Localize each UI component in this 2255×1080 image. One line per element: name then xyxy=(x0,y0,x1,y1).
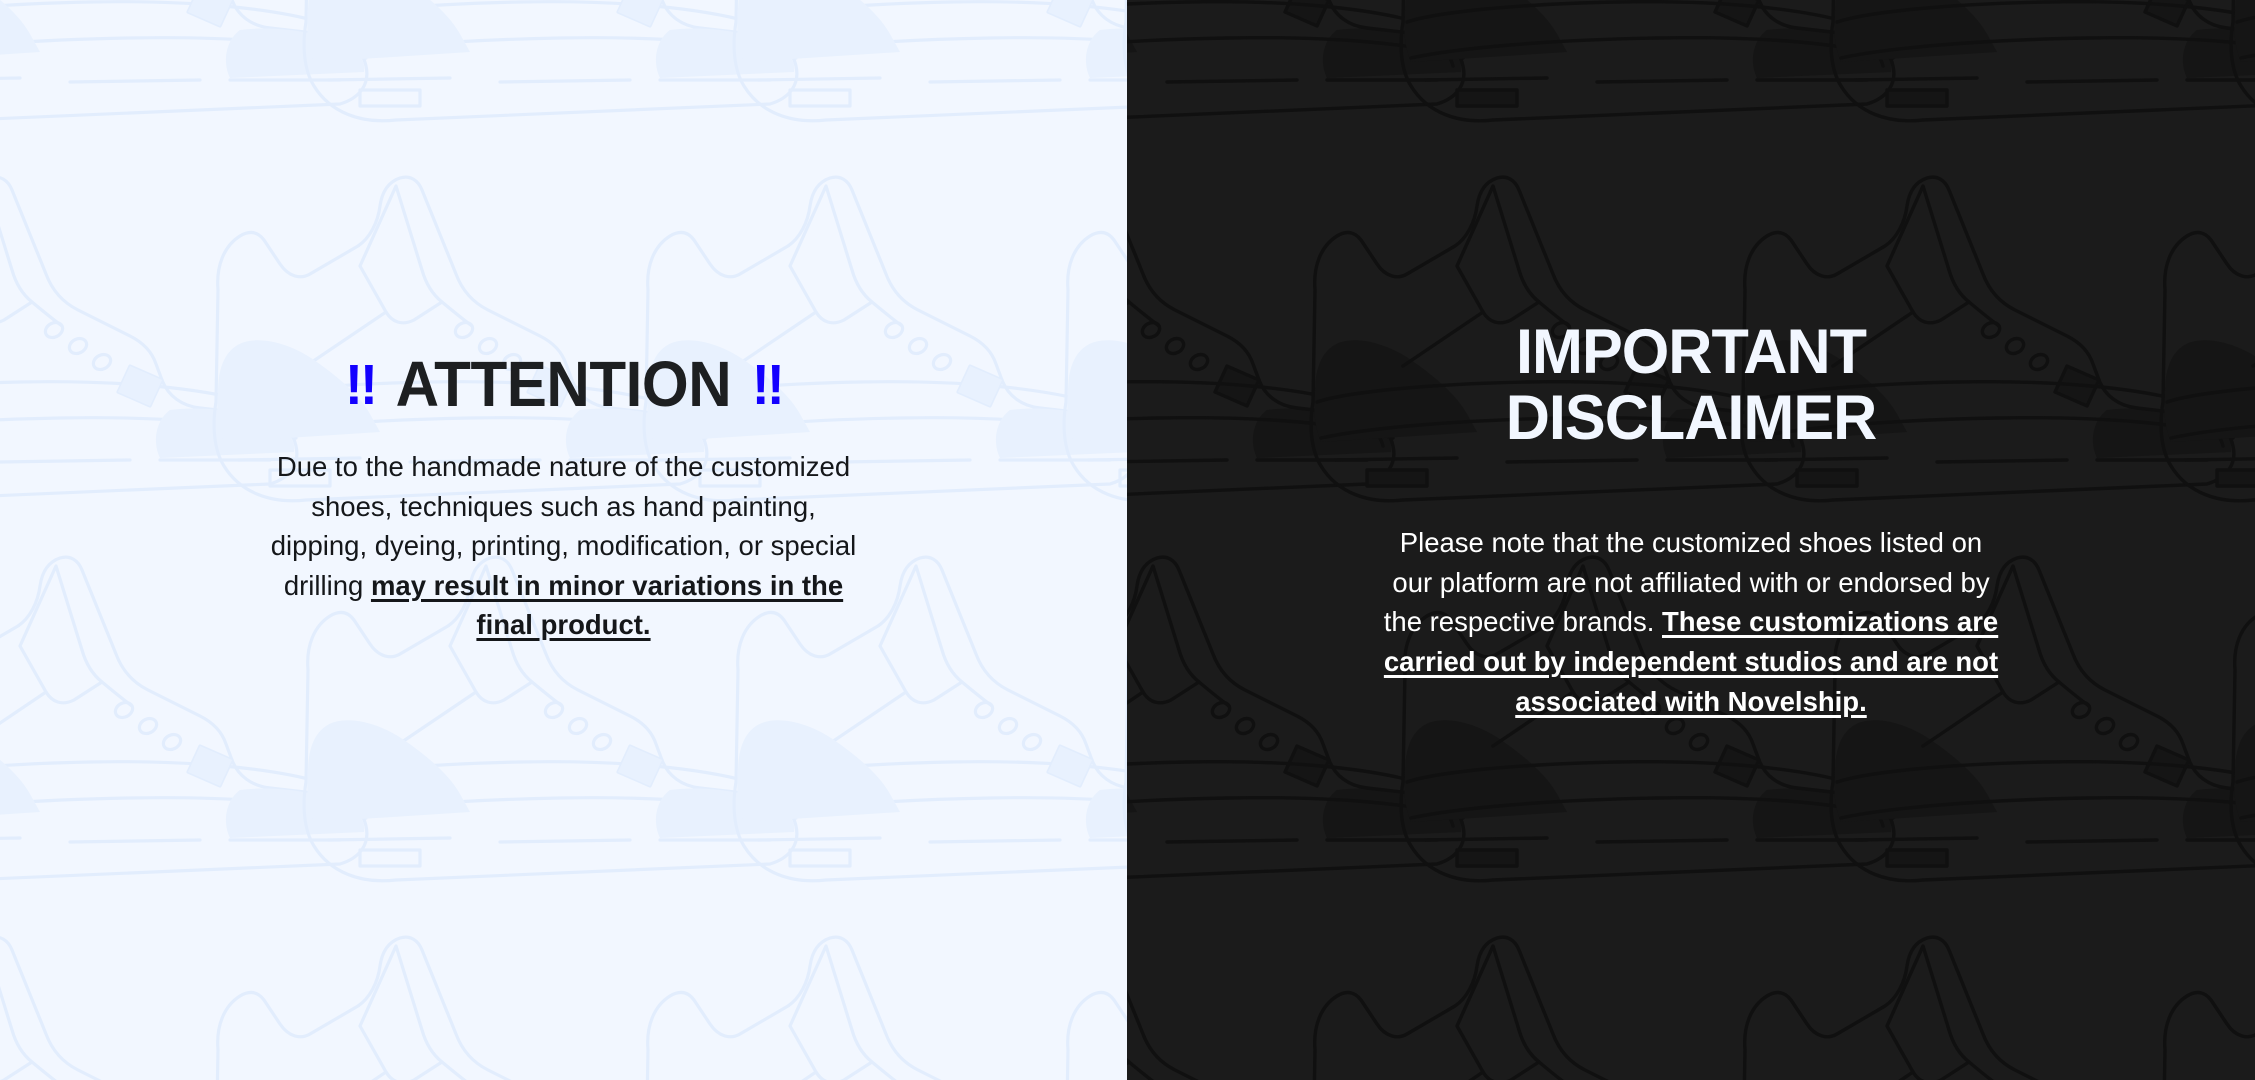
disclaimer-heading: IMPORTANTDISCLAIMER xyxy=(1506,320,1877,451)
disclaimer-body: Please note that the customized shoes li… xyxy=(1381,523,2001,721)
attention-content: !!ATTENTION!! Due to the handmade nature… xyxy=(0,0,1127,1080)
disclaimer-heading-line2: DISCLAIMER xyxy=(1506,383,1877,453)
attention-heading: !!ATTENTION!! xyxy=(345,352,782,416)
attention-body-emphasis: may result in minor variations in the fi… xyxy=(371,570,843,641)
disclaimer-heading-line1: IMPORTANT xyxy=(1516,317,1866,387)
attention-bang-right-icon: !! xyxy=(752,357,782,414)
attention-panel: !!ATTENTION!! Due to the handmade nature… xyxy=(0,0,1127,1080)
attention-bang-left-icon: !! xyxy=(345,357,375,414)
attention-body: Due to the handmade nature of the custom… xyxy=(264,447,864,645)
disclaimer-panel: IMPORTANTDISCLAIMER Please note that the… xyxy=(1127,0,2255,1080)
promo-banner: !!ATTENTION!! Due to the handmade nature… xyxy=(0,0,2255,1080)
attention-title: ATTENTION xyxy=(396,348,732,420)
disclaimer-content: IMPORTANTDISCLAIMER Please note that the… xyxy=(1127,0,2255,1080)
